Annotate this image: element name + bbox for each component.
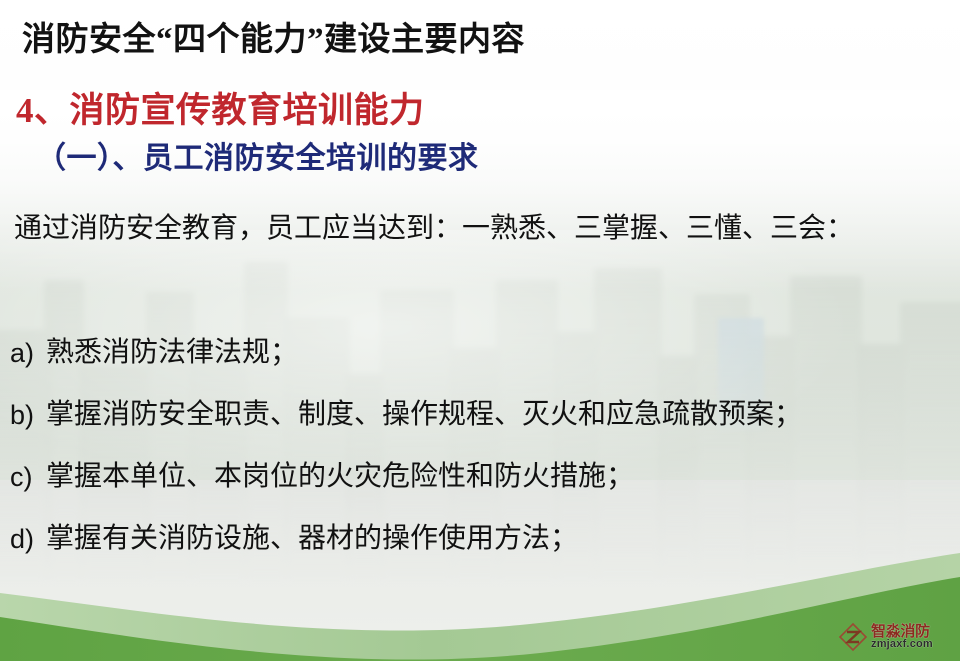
list-item: d) 掌握有关消防设施、器材的操作使用方法；: [10, 508, 954, 570]
slide-canvas: 消防安全“四个能力”建设主要内容 4、消防宣传教育培训能力 （一）、员工消防安全…: [0, 0, 960, 661]
watermark-url: zmjaxf.com: [871, 639, 950, 650]
requirements-list: a) 熟悉消防法律法规； b) 掌握消防安全职责、制度、操作规程、灭火和应急疏散…: [10, 322, 954, 570]
list-item: c) 掌握本单位、本岗位的火灾危险性和防火措施；: [10, 446, 954, 508]
watermark-text: 智淼消防 zmjaxf.com: [871, 624, 950, 650]
section-heading: 4、消防宣传教育培训能力: [16, 82, 425, 133]
list-item-marker: a): [10, 322, 46, 384]
list-item: a) 熟悉消防法律法规；: [10, 322, 954, 384]
list-item-text: 掌握消防安全职责、制度、操作规程、灭火和应急疏散预案；: [46, 384, 954, 446]
subsection-heading: （一）、员工消防安全培训的要求: [36, 133, 479, 177]
list-item: b) 掌握消防安全职责、制度、操作规程、灭火和应急疏散预案；: [10, 384, 954, 446]
watermark-brand: 智淼消防: [871, 624, 950, 639]
list-item-marker: c): [10, 446, 46, 508]
watermark: 智淼消防 zmjaxf.com: [838, 619, 950, 655]
list-item-marker: b): [10, 384, 46, 446]
diamond-z-logo-icon: [838, 622, 868, 652]
intro-paragraph-block: 通过消防安全教育，员工应当达到：一熟悉、三掌握、三懂、三会：: [14, 198, 952, 260]
slide-title: 消防安全“四个能力”建设主要内容: [22, 12, 525, 60]
list-item-marker: d): [10, 508, 46, 570]
intro-paragraph: 通过消防安全教育，员工应当达到：一熟悉、三掌握、三懂、三会：: [14, 198, 952, 260]
list-item-text: 掌握本单位、本岗位的火灾危险性和防火措施；: [46, 446, 954, 508]
list-item-text: 掌握有关消防设施、器材的操作使用方法；: [46, 508, 954, 570]
list-item-text: 熟悉消防法律法规；: [46, 322, 954, 384]
